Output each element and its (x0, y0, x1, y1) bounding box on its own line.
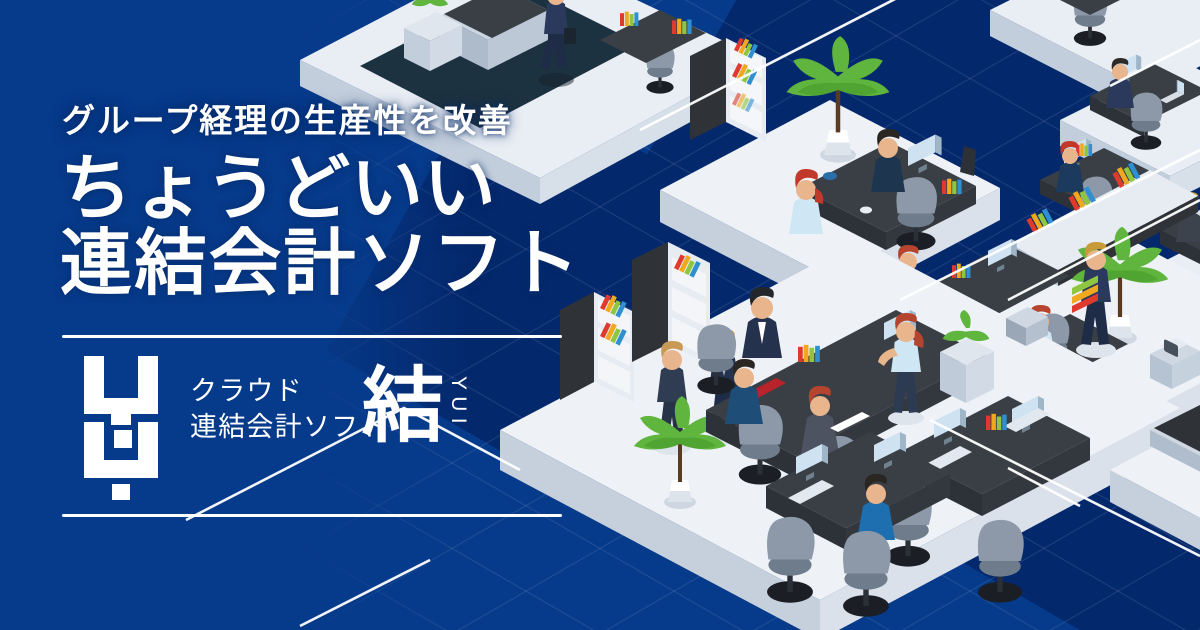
logo-descriptor-line-1: クラウド (190, 374, 388, 410)
logo-lockup: クラウド 連結会計ソフト 結 YUI (62, 352, 572, 504)
logo-descriptor: クラウド 連結会計ソフト (190, 374, 388, 445)
divider-bottom (62, 514, 562, 517)
kicker-text: グループ経理の生産性を改善 (62, 104, 513, 137)
yui-logo-mark-icon (84, 356, 158, 500)
brand-lockup: 結 YUI (362, 368, 469, 446)
page-title: ちょうどいい 連結会計ソフト (60, 152, 582, 302)
banner-root: グループ経理の生産性を改善 ちょうどいい 連結会計ソフト クラウド 連結会計ソフ… (0, 0, 1200, 630)
brand-roman: YUI (448, 376, 469, 430)
text-column: グループ経理の生産性を改善 ちょうどいい 連結会計ソフト クラウド 連結会計ソフ… (0, 0, 620, 630)
title-line-1: ちょうどいい (60, 149, 496, 229)
logo-descriptor-line-2: 連結会計ソフト (190, 410, 388, 446)
title-line-2: 連結会計ソフト (60, 227, 582, 302)
divider-top (62, 335, 562, 338)
brand-kanji: 結 (362, 368, 444, 446)
